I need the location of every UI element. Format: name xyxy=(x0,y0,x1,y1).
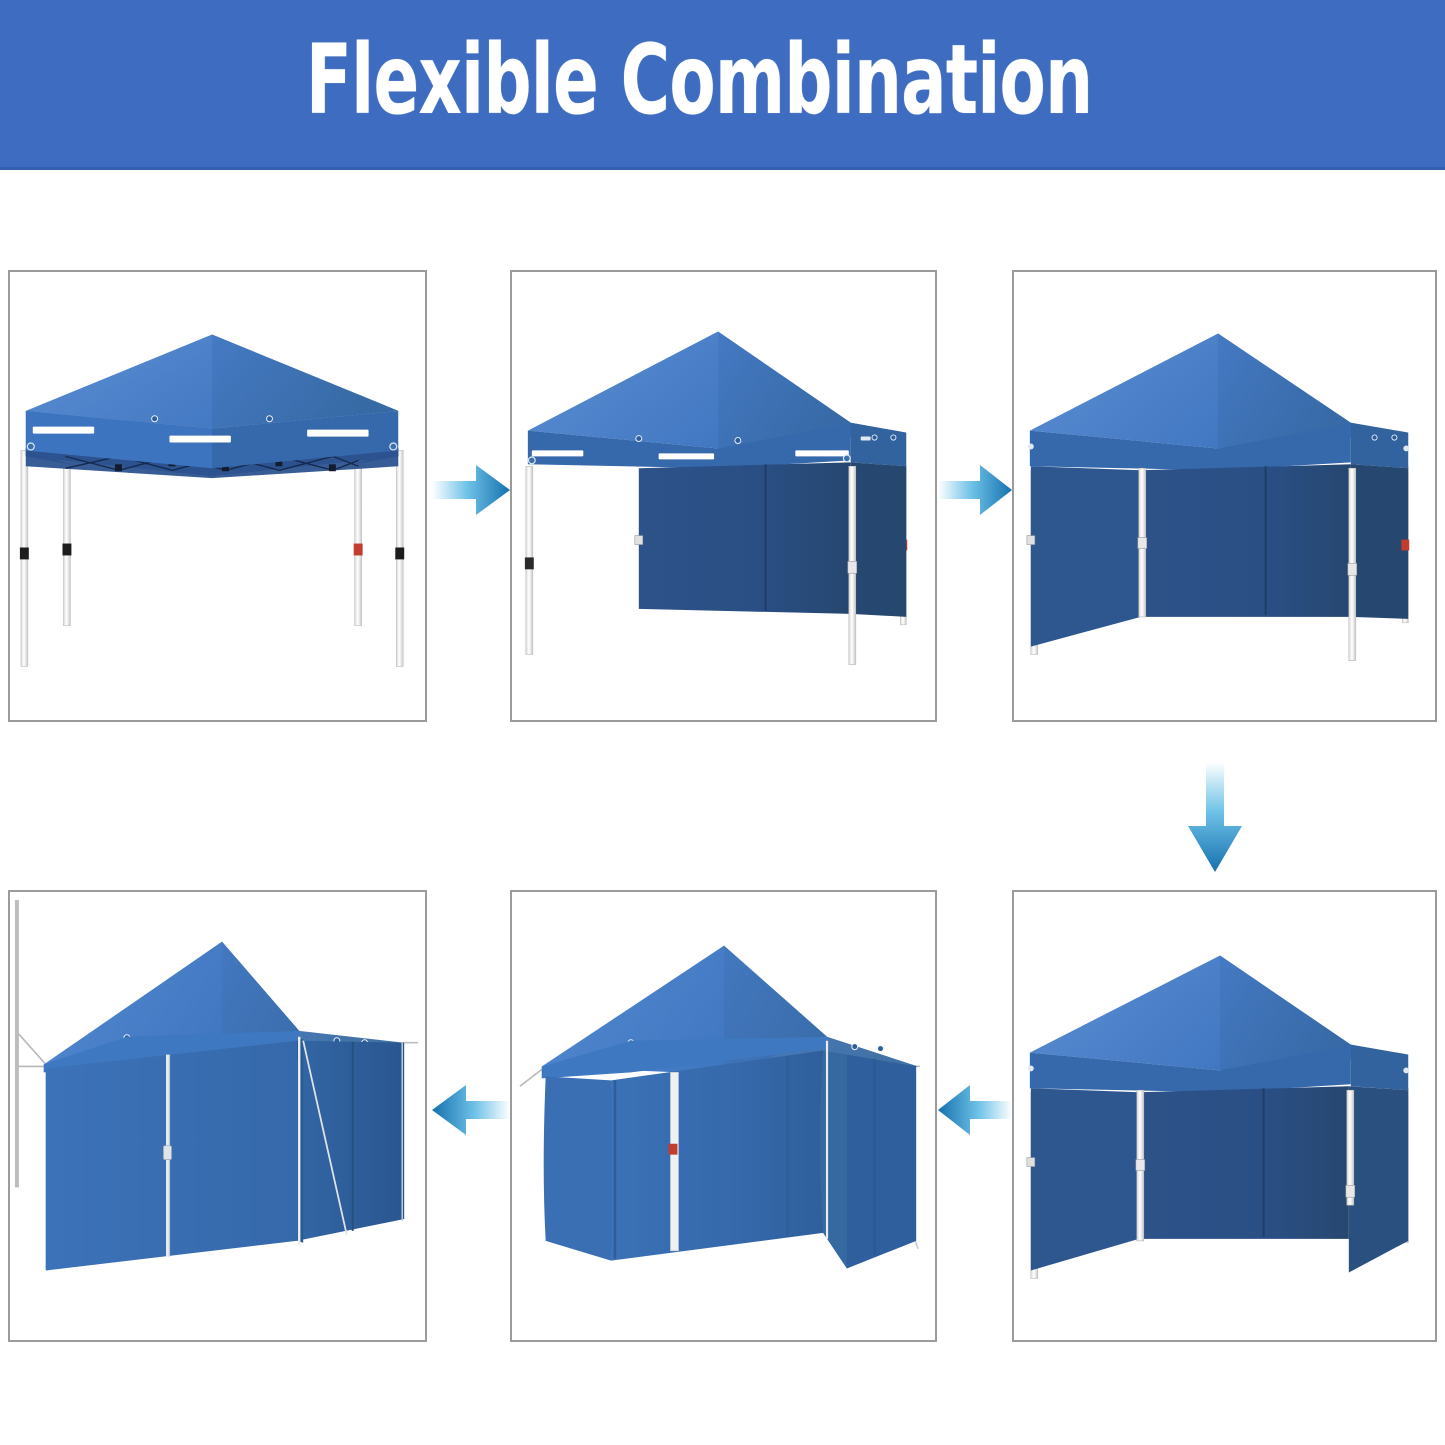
vent-grommet xyxy=(872,435,877,440)
corner-grommet xyxy=(1403,1067,1409,1073)
flow-arrow-right-step2-step3 xyxy=(938,455,1012,525)
vent-grommet xyxy=(152,416,158,422)
reflective-strip xyxy=(795,450,848,456)
leg-height-clip xyxy=(1136,1160,1145,1171)
tent-illustration-three-sidewalls xyxy=(1014,892,1435,1340)
vent-grommet xyxy=(735,438,741,444)
arrow-right-icon xyxy=(432,465,510,515)
leg-height-clip xyxy=(848,561,857,573)
vent-grommet xyxy=(267,416,273,422)
leg-height-clip xyxy=(395,548,404,560)
corner-grommet xyxy=(27,443,34,450)
reflective-strip xyxy=(861,437,871,441)
flow-arrow-left-step5-step6 xyxy=(432,1075,510,1145)
sidewall-back xyxy=(1139,1086,1349,1239)
support-pole xyxy=(671,1072,679,1250)
vent-grommet xyxy=(878,1046,884,1052)
step-6-enclosed-with-door-panel xyxy=(8,890,427,1342)
vent-grommet xyxy=(891,435,896,440)
corner-grommet xyxy=(390,443,397,450)
support-pole xyxy=(15,900,19,1187)
sidewall-left-hanging xyxy=(544,1076,613,1260)
tent-illustration-enclosed-with-door xyxy=(10,892,425,1340)
tent-illustration-three-walls-awning xyxy=(512,892,935,1340)
infographic-page: Flexible Combination xyxy=(0,0,1445,1445)
wall-attachment-clip xyxy=(1027,536,1035,545)
sidewall-right-hanging xyxy=(820,1051,916,1269)
arrow-left-icon xyxy=(432,1085,510,1135)
corner-grommet xyxy=(1028,443,1034,449)
tent-legs-front-group xyxy=(848,466,857,664)
step-4-three-sidewalls-panel xyxy=(1012,890,1437,1342)
step-3-two-sidewalls-panel xyxy=(1012,270,1437,722)
leg-height-clip xyxy=(669,1144,678,1155)
leg-height-clip xyxy=(1138,538,1147,549)
tent-legs-group xyxy=(20,450,404,666)
tent-illustration-one-sidewall xyxy=(512,272,935,720)
leg-height-clip xyxy=(1401,540,1409,551)
reflective-strip xyxy=(307,430,368,437)
corner-grommet xyxy=(1028,1065,1034,1071)
step-1-canopy-only-panel xyxy=(8,270,427,722)
leg-height-clip xyxy=(525,557,534,569)
leg-height-clip xyxy=(354,544,363,556)
canopy-roof xyxy=(26,335,398,429)
corner-grommet xyxy=(528,457,535,464)
arrow-left-icon xyxy=(938,1085,1012,1135)
step-2-one-sidewall-panel xyxy=(510,270,937,722)
sidewall-back xyxy=(635,462,906,617)
header-banner: Flexible Combination xyxy=(0,0,1445,170)
leg-height-clip xyxy=(1348,563,1357,575)
reflective-strip xyxy=(532,450,584,456)
vent-grommet xyxy=(1372,435,1377,440)
arrow-right-icon xyxy=(938,465,1012,515)
sidewall-left xyxy=(1027,1088,1139,1270)
reflective-strip xyxy=(169,436,230,443)
leg-height-clip xyxy=(62,544,71,556)
page-title: Flexible Combination xyxy=(136,30,1263,131)
flow-arrow-down-step3-step4 xyxy=(1180,762,1250,872)
vent-grommet xyxy=(636,436,642,442)
sidewall-left xyxy=(1027,466,1141,646)
sidewall-right xyxy=(297,1039,404,1243)
wall-attachment-clip xyxy=(1027,1158,1035,1167)
sidewall-front xyxy=(46,1041,298,1271)
corner-grommet xyxy=(1403,445,1409,451)
corner-grommet xyxy=(843,455,850,462)
vent-grommet xyxy=(852,1044,858,1050)
vent-grommet xyxy=(1392,435,1397,440)
sidewall-back xyxy=(611,1051,823,1261)
flow-arrow-left-step4-step5 xyxy=(938,1075,1012,1145)
reflective-strip xyxy=(659,453,714,459)
wall-attachment-clip xyxy=(635,536,643,545)
leg-height-clip xyxy=(20,548,29,560)
tent-illustration-two-sidewalls xyxy=(1014,272,1435,720)
step-5-three-walls-awning-panel xyxy=(510,890,937,1342)
sidewall-back xyxy=(1141,464,1408,619)
arrow-down-icon xyxy=(1188,762,1242,872)
flow-arrow-right-step1-step2 xyxy=(432,455,510,525)
sidewall-right xyxy=(1349,1086,1408,1272)
leg-height-clip xyxy=(1346,1185,1355,1197)
zipper-pull[interactable] xyxy=(164,1146,172,1160)
tent-illustration-canopy-only xyxy=(10,272,425,720)
reflective-strip xyxy=(33,427,94,434)
